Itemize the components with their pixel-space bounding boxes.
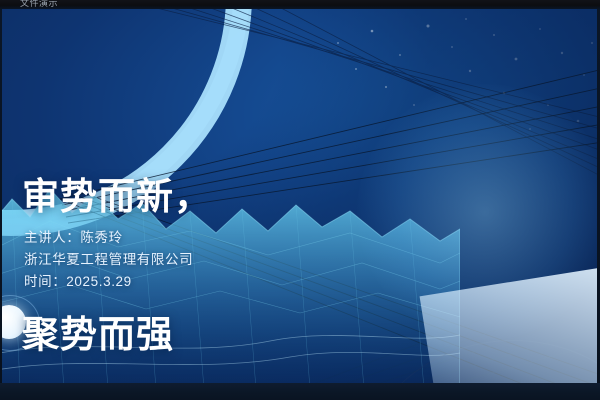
- window-bottom-bar: [0, 383, 600, 400]
- slide-canvas[interactable]: 审势而新， 聚势而强 主讲人：陈秀玲 浙江华夏工程管理有限公司 时间：2025.…: [0, 9, 600, 383]
- slide-edge-left: [0, 9, 2, 383]
- window-title: 文件演示: [20, 0, 58, 9]
- slide-title-line1: 审势而新，: [22, 174, 352, 220]
- company-line: 浙江华夏工程管理有限公司: [24, 249, 354, 271]
- digital-globe: [357, 84, 553, 280]
- window-titlebar: 文件演示: [0, 0, 600, 9]
- presentation-window: 文件演示: [0, 0, 600, 400]
- slide-subtitle: 主讲人：陈秀玲 浙江华夏工程管理有限公司 时间：2025.3.29: [24, 227, 354, 293]
- date-line: 时间：2025.3.29: [24, 271, 354, 293]
- presenter-line: 主讲人：陈秀玲: [24, 227, 354, 249]
- slide-title-line2: 聚势而强: [22, 312, 352, 358]
